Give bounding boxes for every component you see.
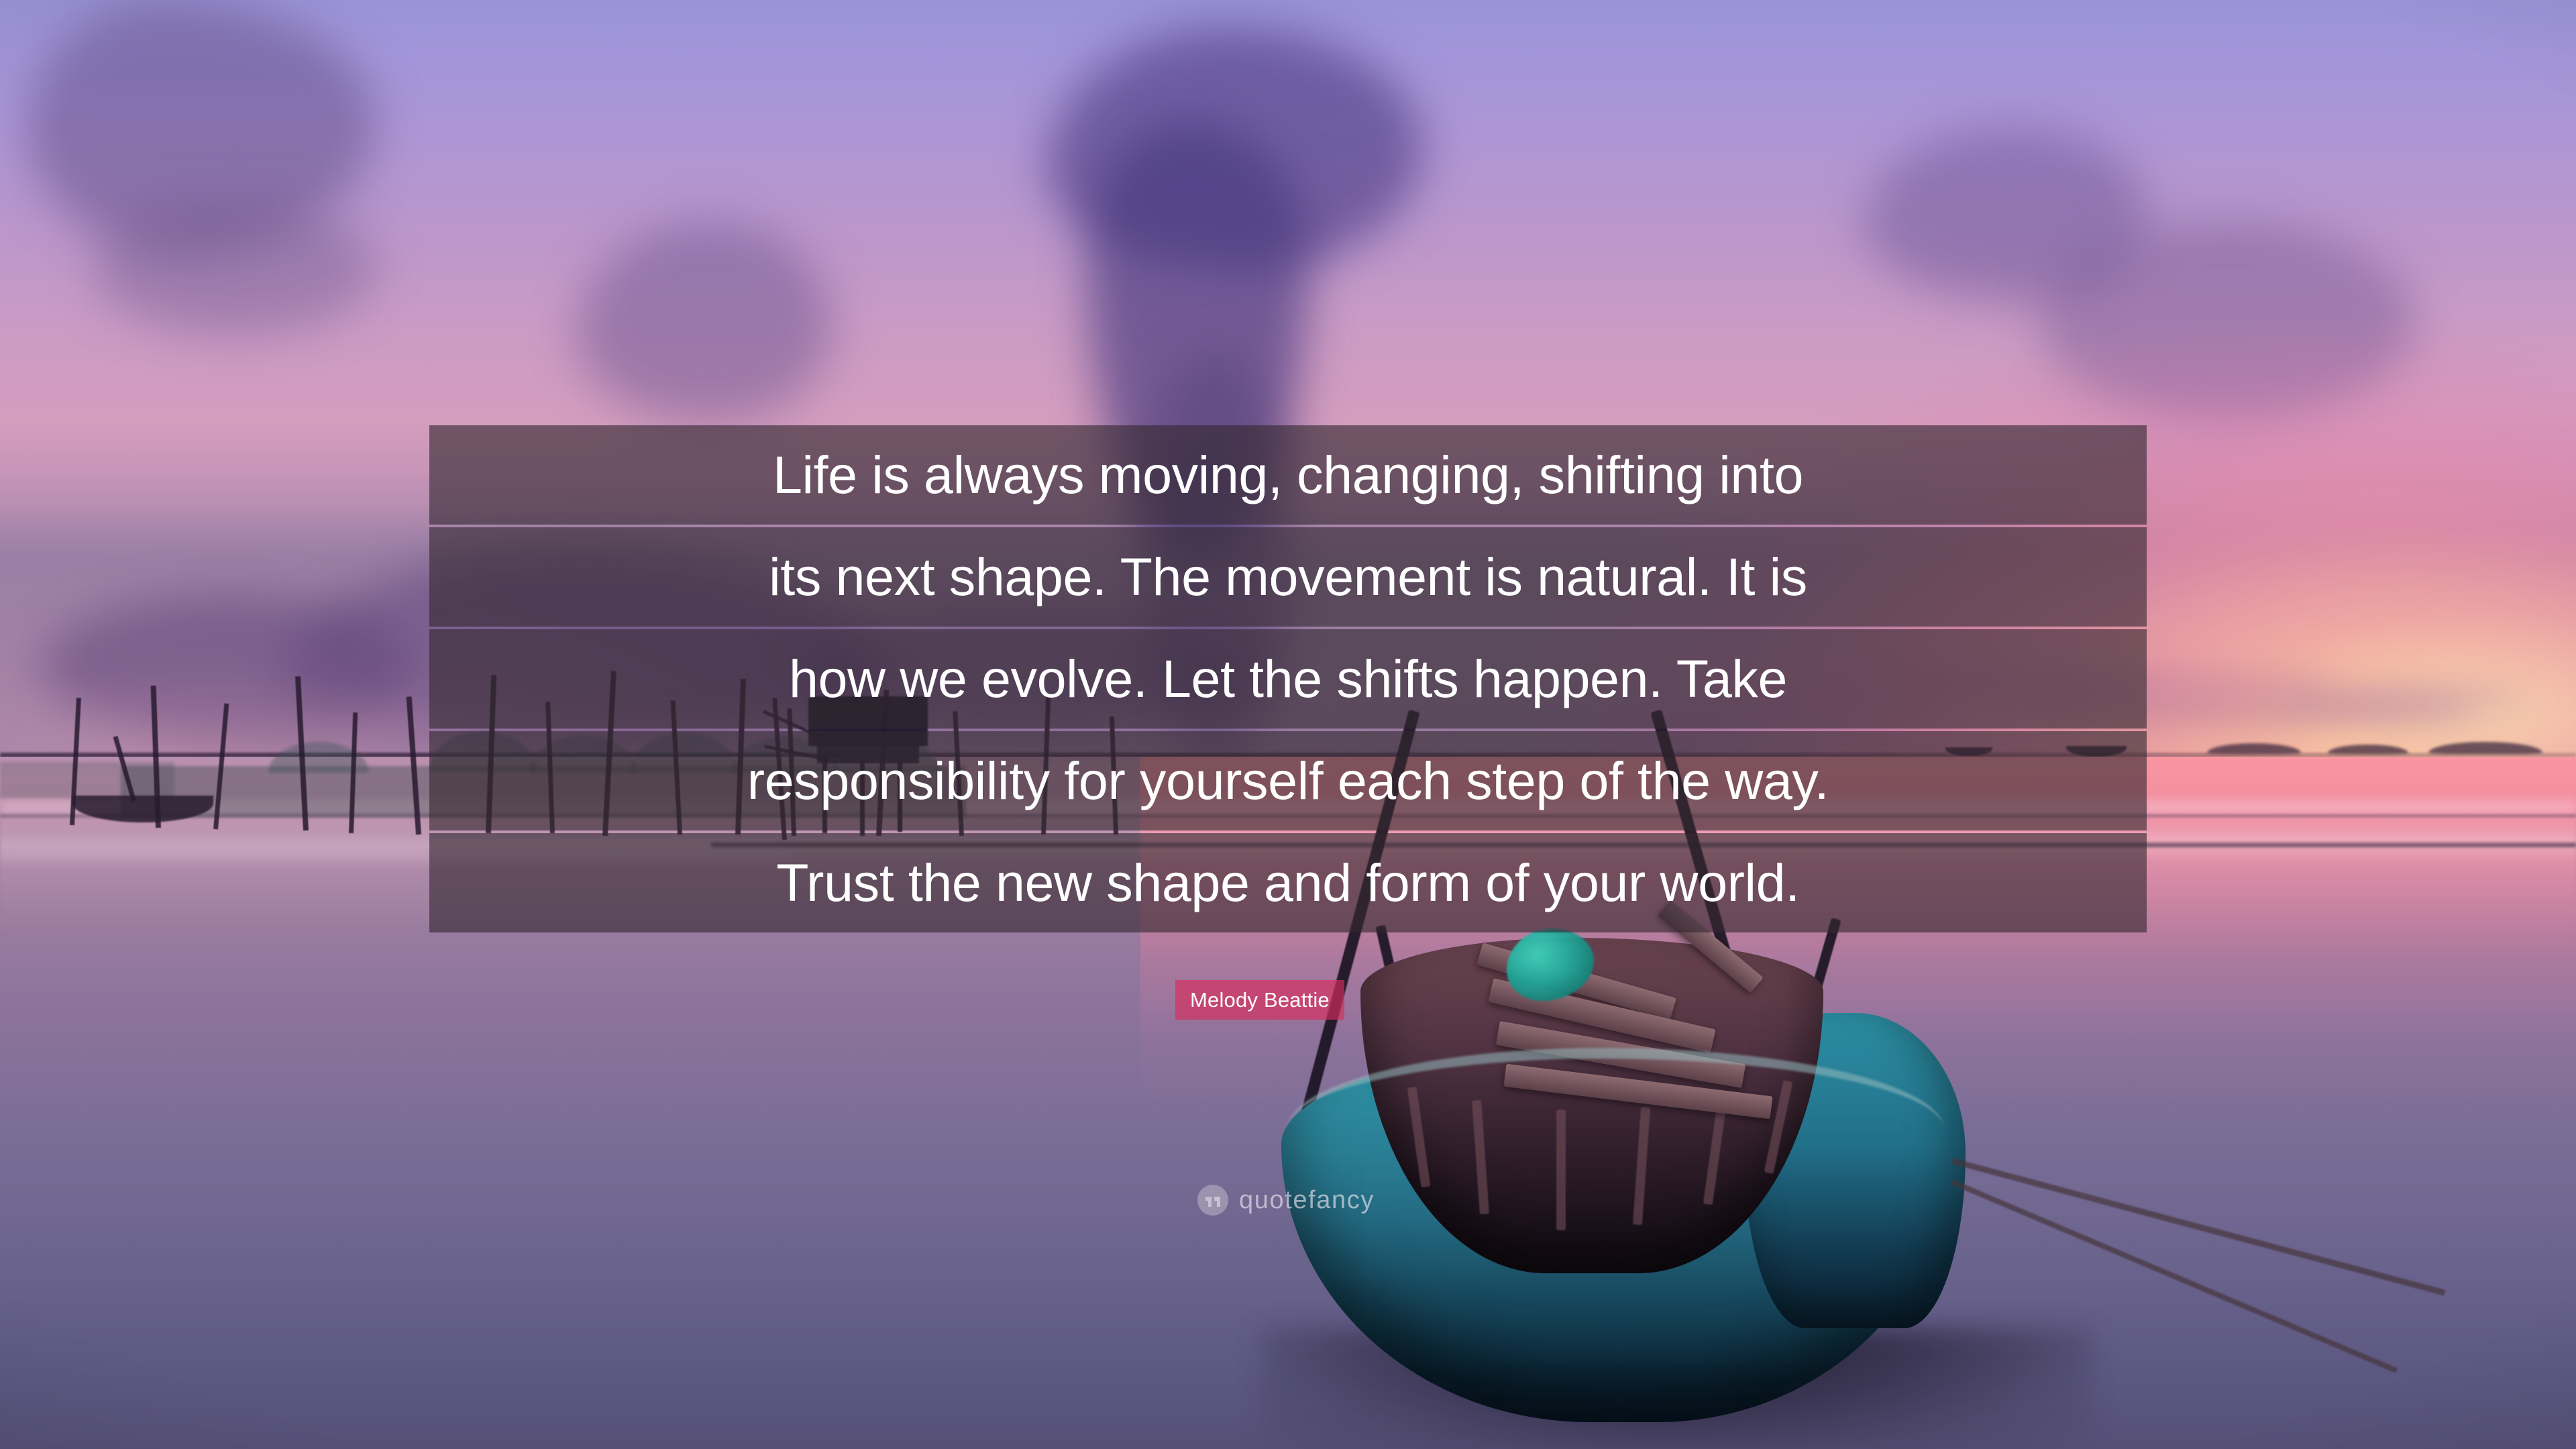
quote-line-4: responsibility for yourself each step of… <box>429 731 2147 830</box>
quotefancy-watermark[interactable]: quotefancy <box>1197 1185 1375 1216</box>
quote-line-1: Life is always moving, changing, shiftin… <box>429 425 2147 525</box>
fishing-net-skirt <box>0 762 174 798</box>
wallpaper-canvas: Life is always moving, changing, shiftin… <box>0 0 2576 1449</box>
quote-line-5: Trust the new shape and form of your wor… <box>429 833 2147 932</box>
quote-mark-icon <box>1197 1185 1228 1216</box>
cloud-streak <box>2274 691 2529 711</box>
quote-line-3: how we evolve. Let the shifts happen. Ta… <box>429 629 2147 729</box>
quote-author: Melody Beattie <box>1175 980 1344 1020</box>
quotefancy-brand-text: quotefancy <box>1239 1186 1375 1215</box>
foreground-boat <box>1275 879 2066 1449</box>
quote-text-block: Life is always moving, changing, shiftin… <box>429 425 2147 932</box>
quote-line-2: its next shape. The movement is natural.… <box>429 527 2147 627</box>
